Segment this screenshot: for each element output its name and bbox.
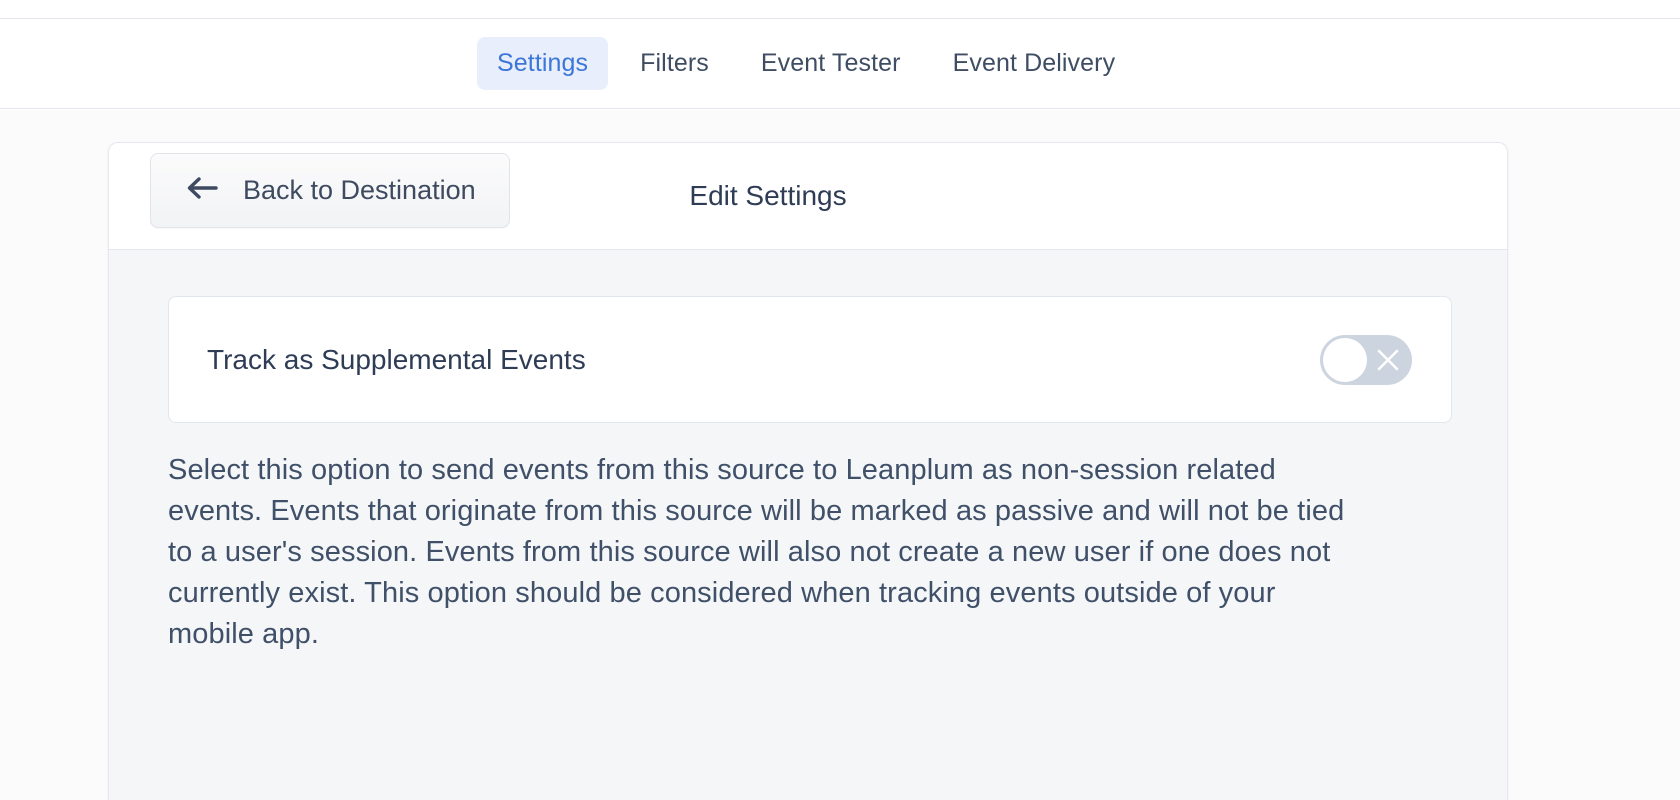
tab-settings[interactable]: Settings — [477, 37, 608, 90]
toggle-knob — [1323, 338, 1367, 382]
tab-filters[interactable]: Filters — [620, 37, 729, 90]
top-strip — [0, 0, 1680, 19]
arrow-left-icon — [184, 173, 220, 208]
supplemental-events-description: Select this option to send events from t… — [168, 450, 1368, 655]
back-to-destination-button[interactable]: Back to Destination — [150, 153, 510, 228]
page-body: Back to Destination Edit Settings Track … — [0, 110, 1680, 800]
tab-bar: Settings Filters Event Tester Event Deli… — [0, 19, 1680, 109]
tab-event-tester-label: Event Tester — [761, 49, 901, 77]
app-root: Settings Filters Event Tester Event Deli… — [0, 0, 1680, 800]
tab-filters-label: Filters — [640, 49, 709, 77]
tab-event-delivery-label: Event Delivery — [953, 49, 1116, 77]
tab-event-tester[interactable]: Event Tester — [741, 37, 921, 90]
card-header: Back to Destination Edit Settings — [109, 143, 1507, 250]
supplemental-events-label: Track as Supplemental Events — [207, 344, 586, 376]
supplemental-events-row: Track as Supplemental Events — [168, 296, 1452, 423]
track-supplemental-events-toggle[interactable] — [1320, 335, 1412, 385]
settings-card: Back to Destination Edit Settings Track … — [108, 142, 1508, 800]
tab-settings-label: Settings — [497, 49, 588, 77]
close-x-icon — [1375, 347, 1401, 373]
card-body: Track as Supplemental Events Select this… — [109, 250, 1507, 800]
back-button-label: Back to Destination — [243, 175, 476, 206]
tab-event-delivery[interactable]: Event Delivery — [933, 37, 1136, 90]
